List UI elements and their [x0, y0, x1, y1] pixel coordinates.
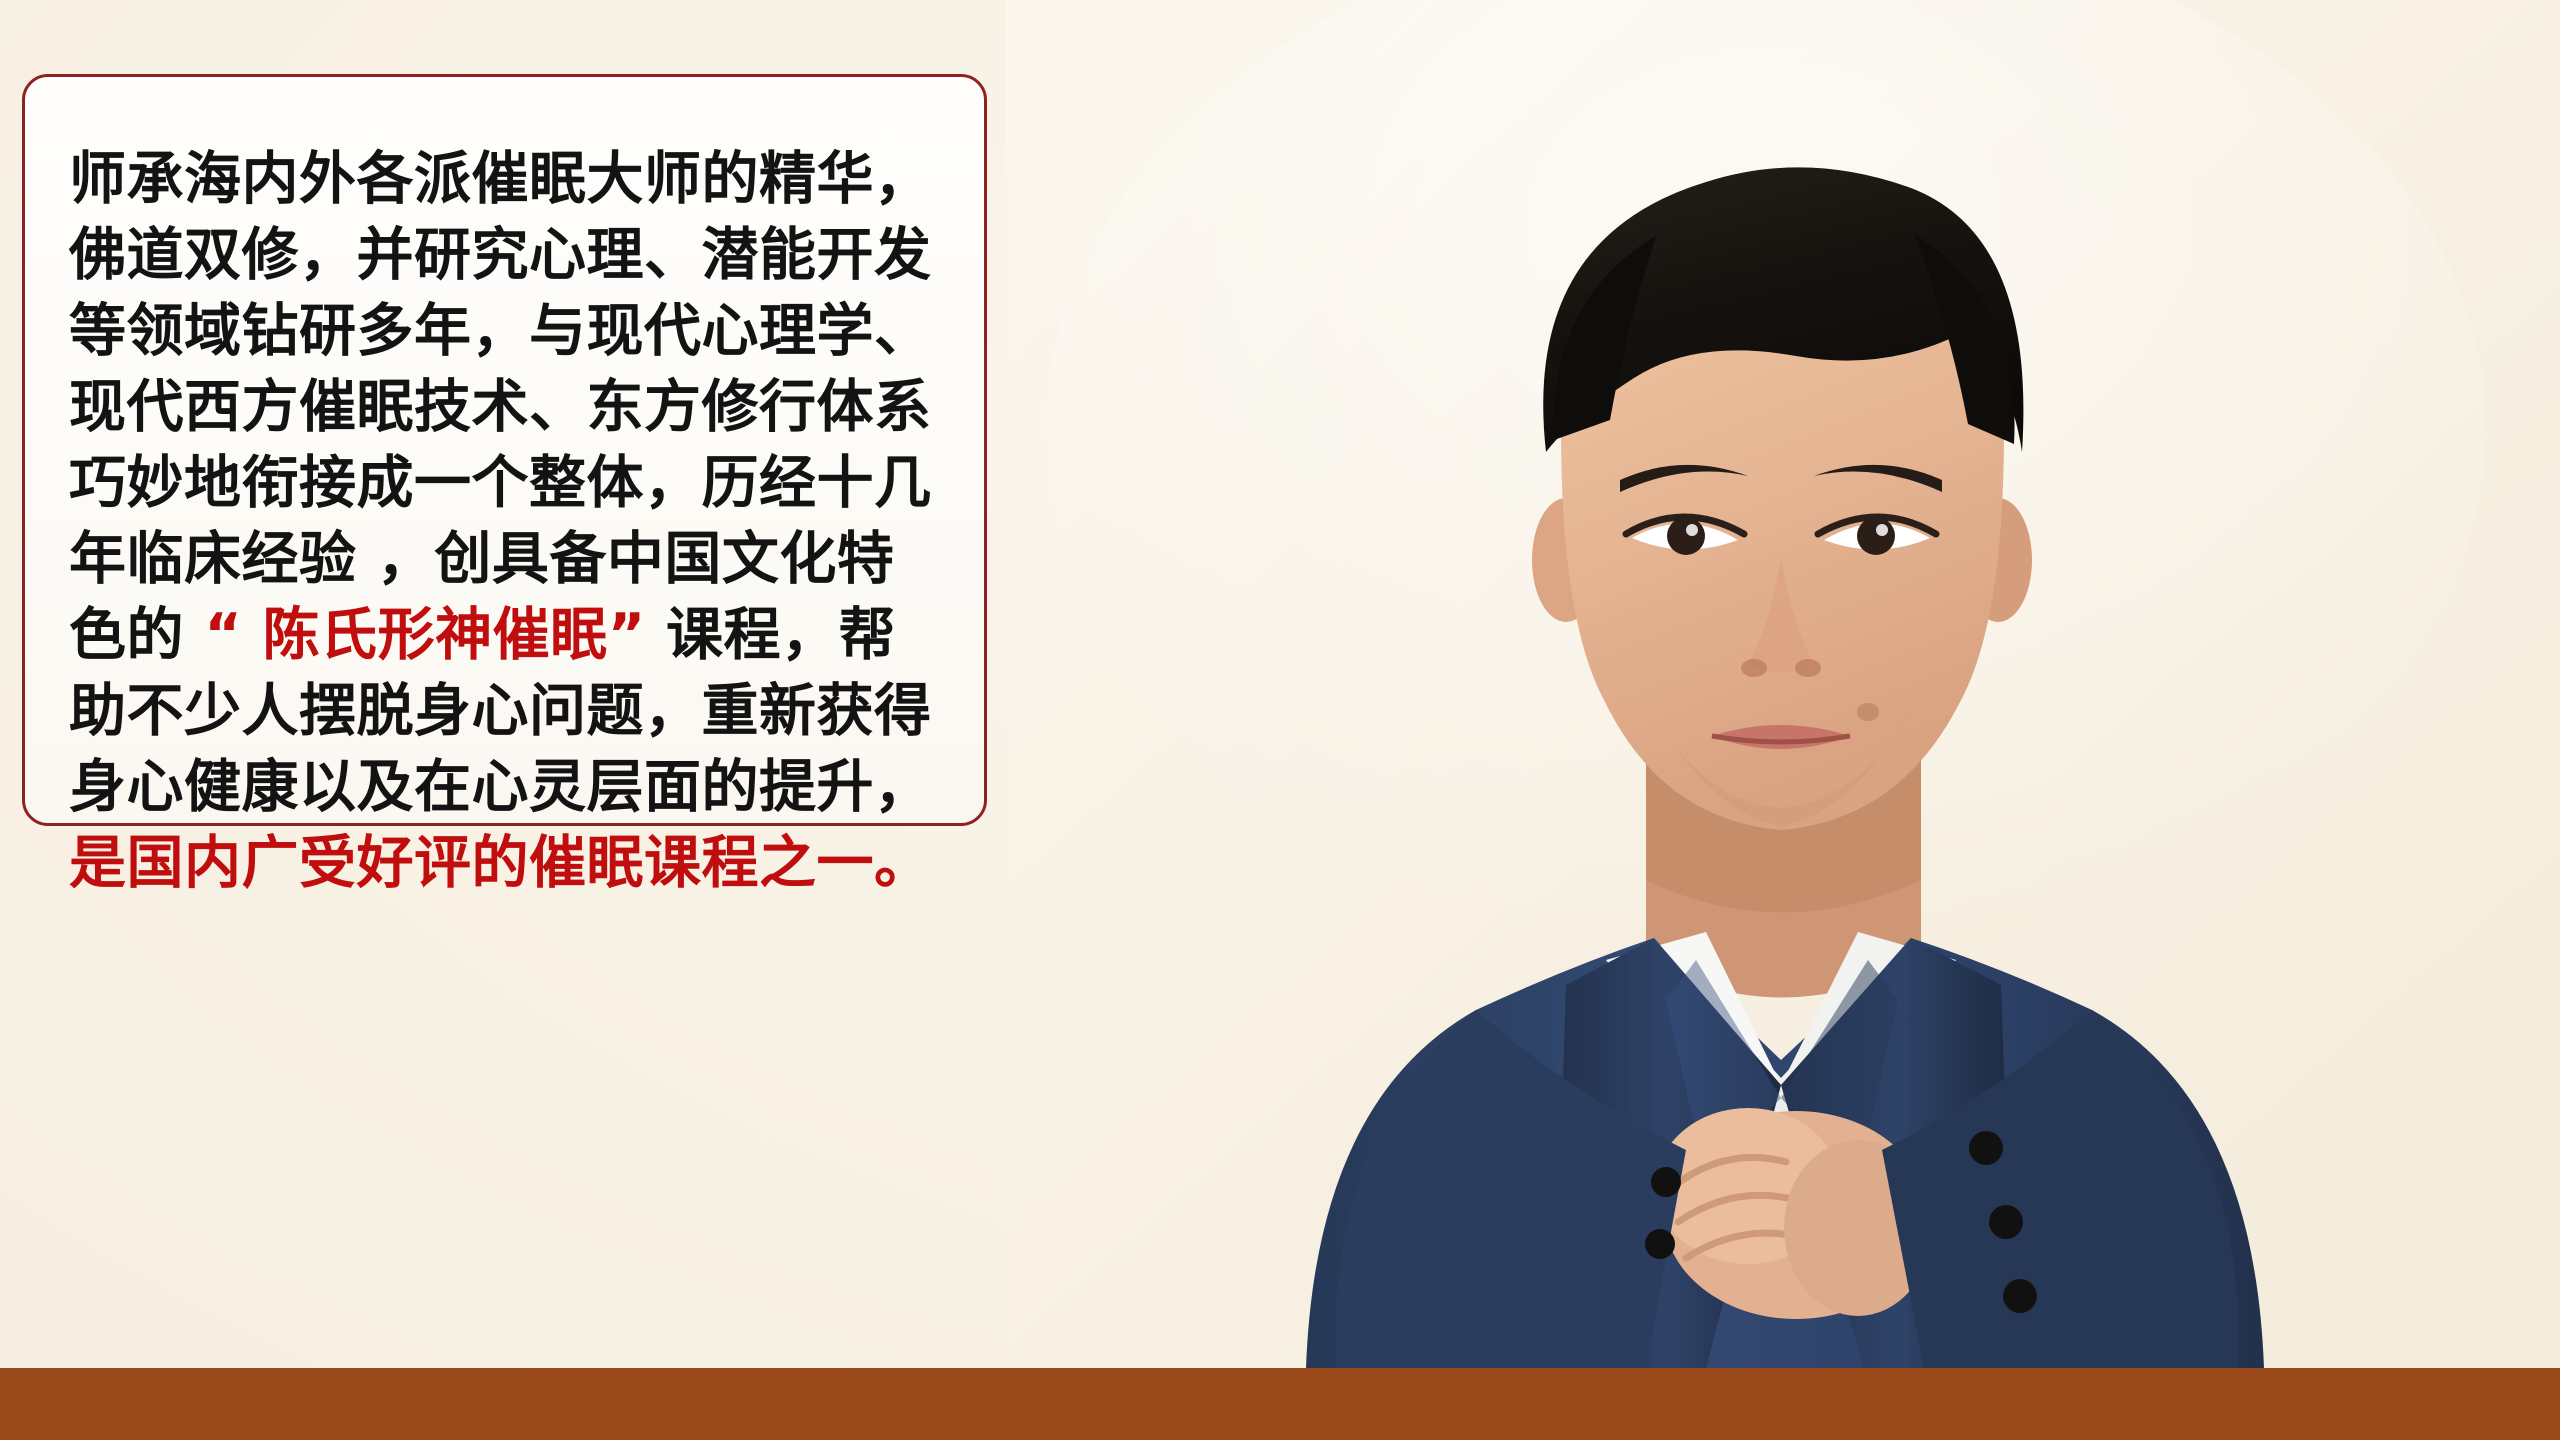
bio-highlight-span: ” [608, 602, 646, 668]
bio-highlight-span: 是国内广受好评的催眠课程之一。 [69, 830, 932, 896]
bio-text-card: 师承海内外各派催眠大师的精华，佛道双修，并研究心理、潜能开发等领域钻研多年，与现… [22, 74, 987, 826]
bio-highlight-span: 陈氏形神催眠 [242, 602, 607, 668]
portrait-photo [1006, 0, 2560, 1368]
slide-canvas: 师承海内外各派催眠大师的精华，佛道双修，并研究心理、潜能开发等领域钻研多年，与现… [0, 0, 2560, 1440]
bio-paragraph: 师承海内外各派催眠大师的精华，佛道双修，并研究心理、潜能开发等领域钻研多年，与现… [69, 141, 949, 901]
bio-text-span: 师承海内外各派催眠大师的精华，佛道双修，并研究心理、潜能开发等领域钻研多年，与现… [69, 146, 932, 668]
bottom-accent-bar [0, 1368, 2560, 1440]
bio-highlight-span: “ [204, 602, 242, 668]
